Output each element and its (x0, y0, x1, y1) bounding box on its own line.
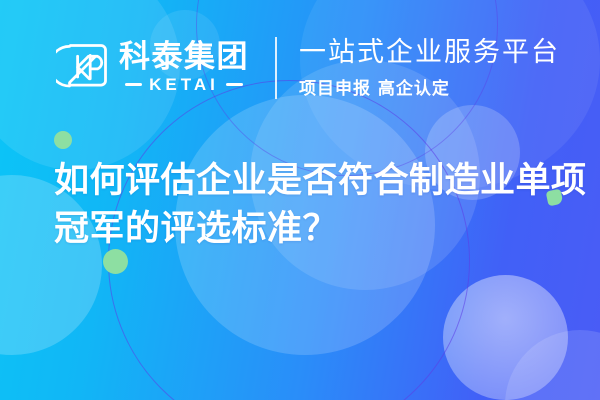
decorative-green-dot-upper (54, 131, 72, 149)
header-divider (275, 37, 277, 99)
headline-line-2: 冠军的评选标准？ (54, 205, 574, 253)
promo-banner: 科泰集团 KETAI 一站式企业服务平台 项目申报 高企认定 如何评估企业是否符… (0, 0, 600, 400)
brand-logo-lockup: 科泰集团 KETAI (56, 41, 249, 95)
decorative-circle-bottom-right-back (505, 330, 600, 400)
brand-name-en: KETAI (149, 75, 219, 95)
brand-name-cn: 科泰集团 (119, 41, 249, 73)
tagline-secondary: 项目申报 高企认定 (299, 74, 560, 99)
headline-line-1: 如何评估企业是否符合制造业单项 (54, 157, 574, 205)
decorative-circle-bottom-right (443, 275, 568, 400)
brand-wordmark: 科泰集团 KETAI (119, 41, 249, 94)
banner-header: 科泰集团 KETAI 一站式企业服务平台 项目申报 高企认定 (0, 28, 600, 108)
brand-name-en-row: KETAI (125, 75, 243, 95)
tagline-block: 一站式企业服务平台 项目申报 高企认定 (299, 37, 560, 99)
brand-rule-right (226, 83, 243, 86)
headline-block: 如何评估企业是否符合制造业单项 冠军的评选标准？ (54, 157, 574, 254)
ketai-kd-monogram-icon (56, 41, 110, 95)
tagline-primary: 一站式企业服务平台 (299, 37, 560, 70)
brand-rule-left (125, 83, 142, 86)
